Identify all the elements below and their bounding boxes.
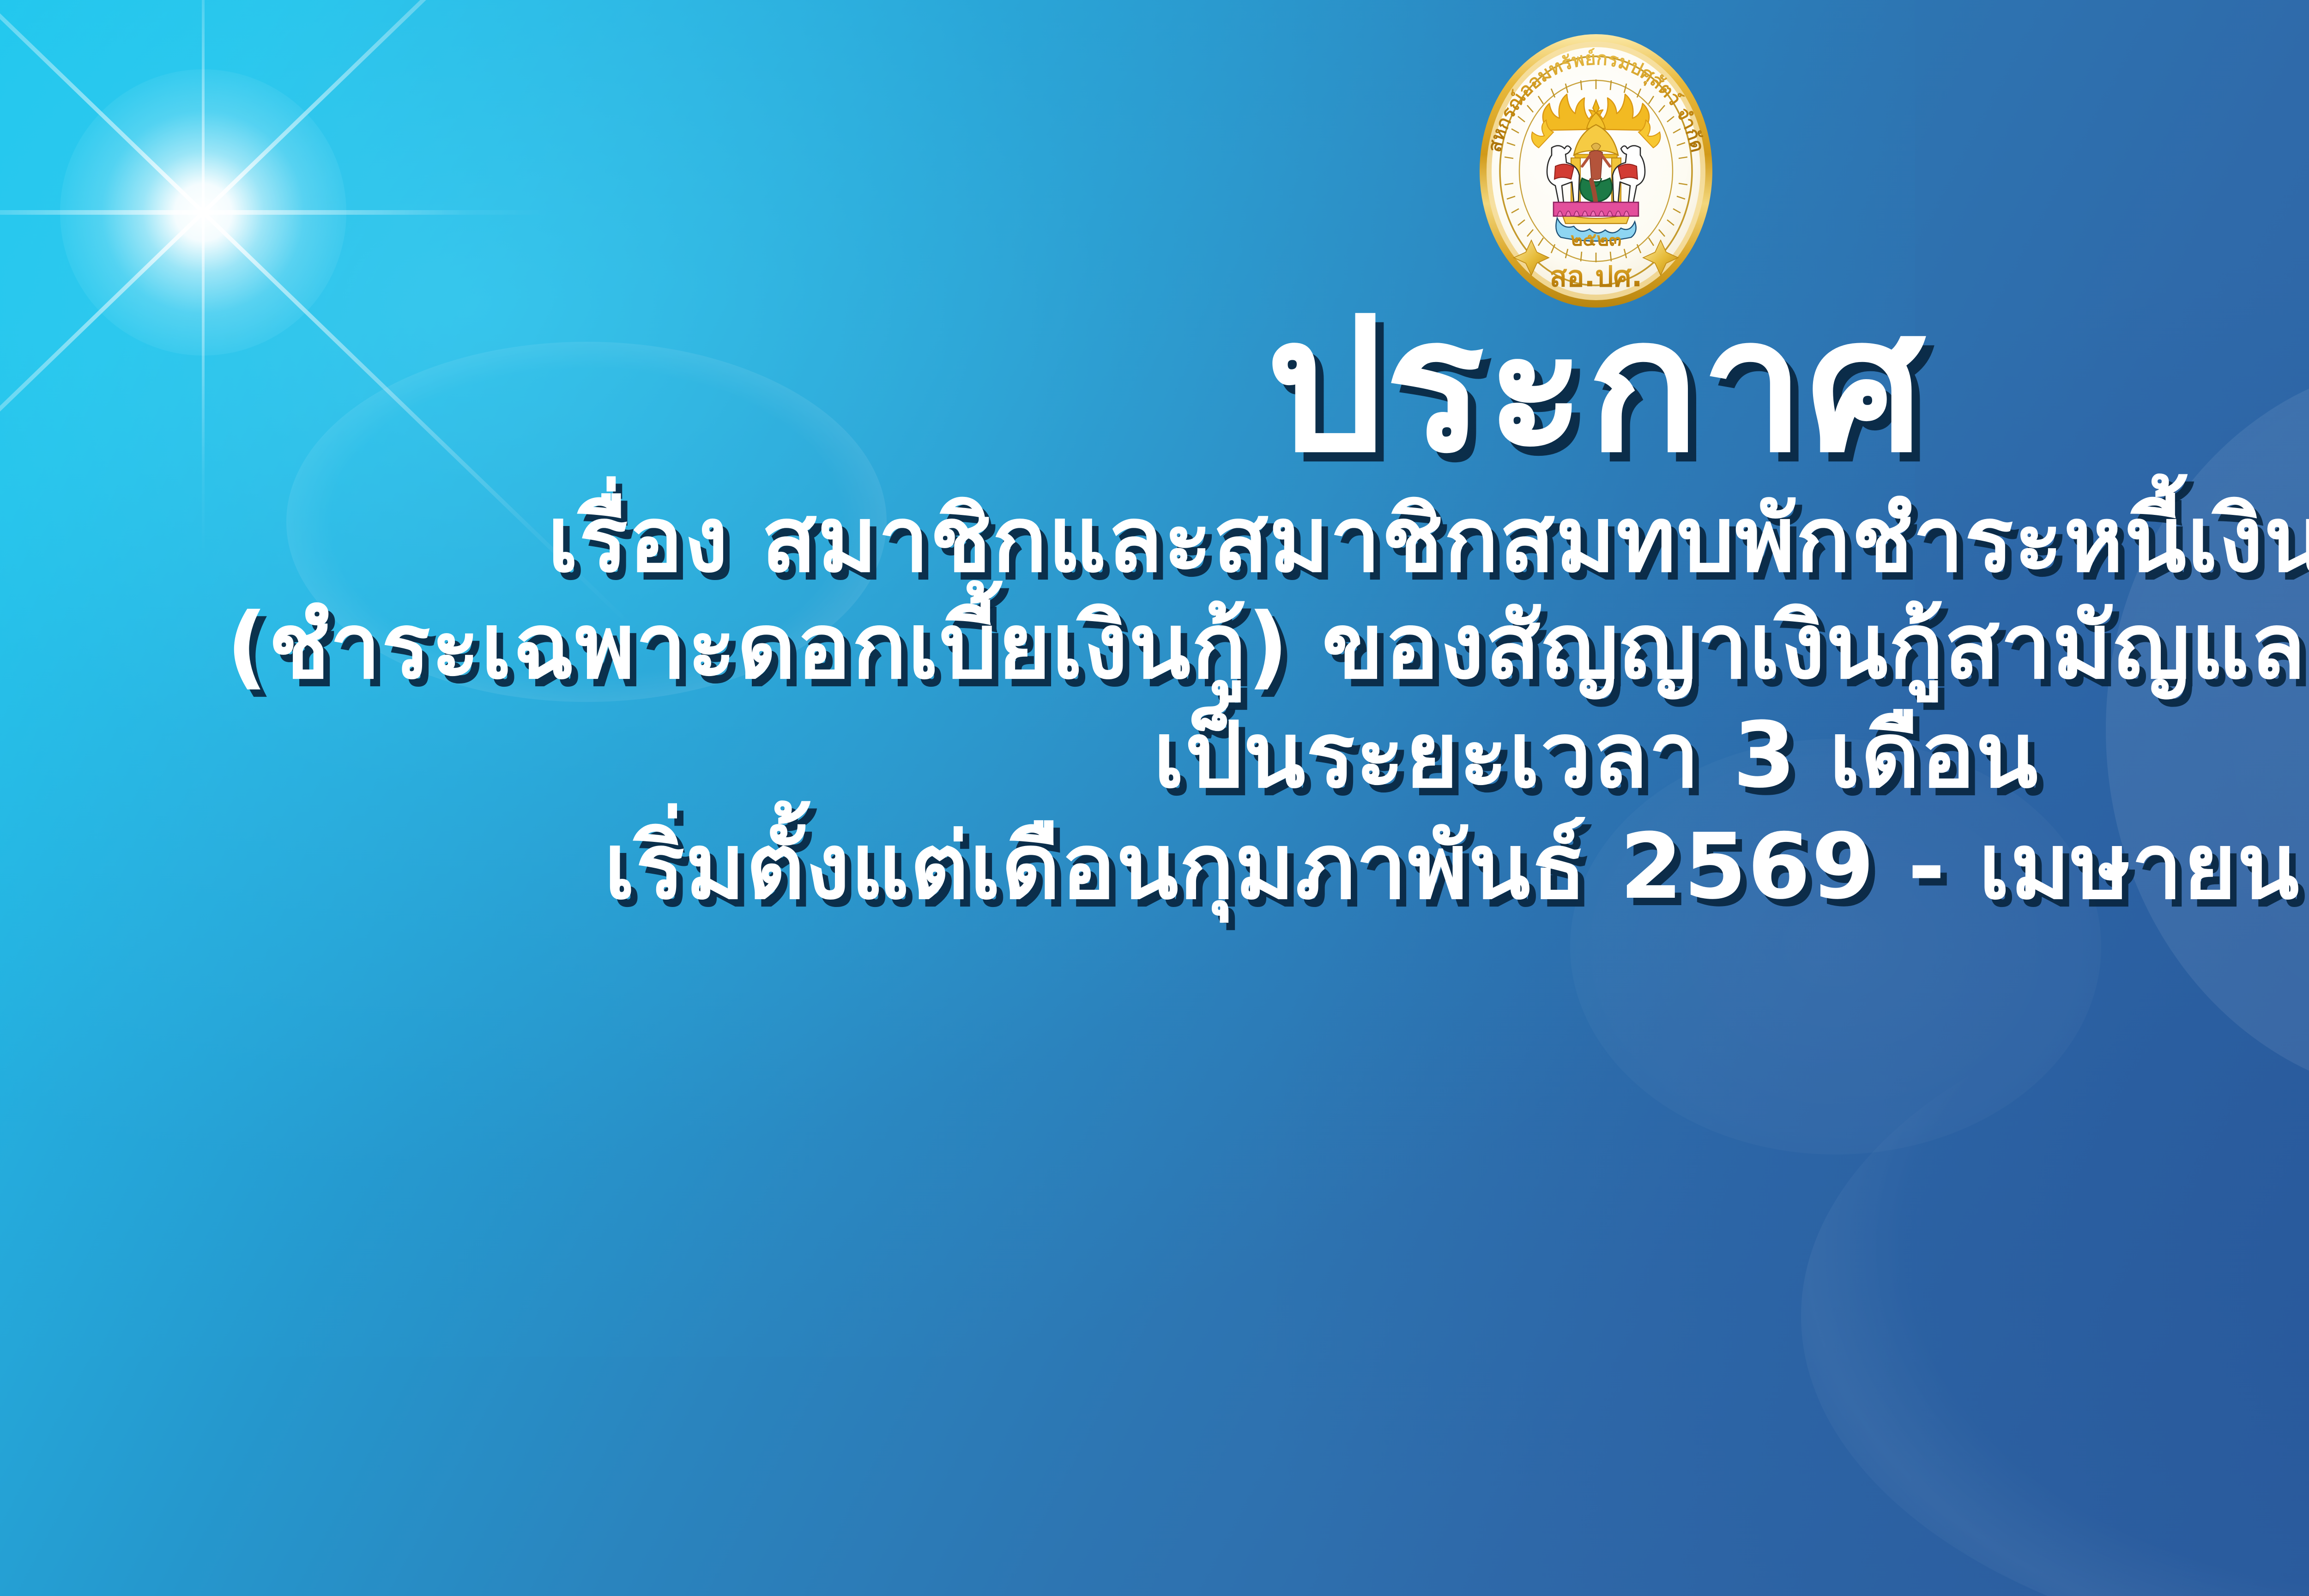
page-title: ประกาศ xyxy=(0,296,2309,477)
poster-text-block: ประกาศ เรื่อง สมาชิกและสมาชิกสมทบพักชำระ… xyxy=(0,296,2309,920)
seal-year-text: ๒๕๒๓ xyxy=(1571,229,1621,250)
subject-line-1: เรื่อง สมาชิกและสมาชิกสมทบพักชำระหนี้เงิ… xyxy=(0,487,2309,593)
duration-line: เป็นระยะเวลา 3 เดือน xyxy=(0,702,2309,809)
period-line: เริ่มตั้งแต่เดือนกุมภาพันธ์ 2569 - เมษาย… xyxy=(0,814,2309,920)
announcement-poster: สหกรณ์ออมทรัพย์กรมปศุสัตว์ จำกัด xyxy=(0,0,2309,1596)
subject-line-2: (ชำระเฉพาะดอกเบี้ยเงินกู้) ของสัญญาเงินก… xyxy=(0,593,2309,700)
